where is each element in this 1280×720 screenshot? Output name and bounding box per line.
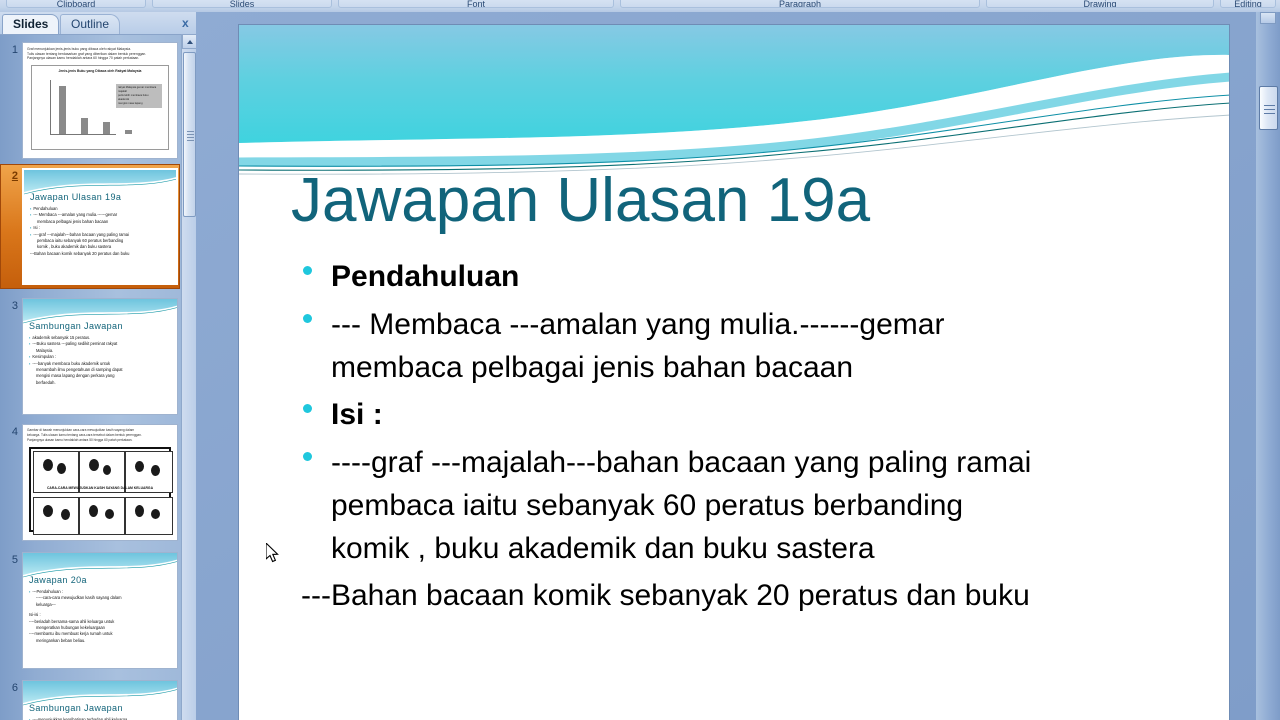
- bullet-continuation: pembaca iaitu sebanyak 60 peratus berban…: [291, 484, 1215, 527]
- page-title[interactable]: Jawapan Ulasan 19a: [291, 165, 870, 236]
- slide-number: 6: [4, 682, 18, 694]
- slide-number: 3: [4, 300, 18, 312]
- bullet-line: --- Membaca ---amalan yang mulia.------g…: [291, 303, 1215, 346]
- thumbnail-canvas: Jawapan 20a ---Pendahuluan : -----cara-c…: [22, 552, 178, 669]
- bullet-icon: [303, 404, 312, 413]
- bullet-line: ----graf ---majalah---bahan bacaan yang …: [291, 441, 1215, 484]
- bullet-text: pembaca iaitu sebanyak 60 peratus berban…: [331, 489, 963, 522]
- bullet-continuation: membaca pelbagai jenis bahan bacaan: [291, 346, 1215, 389]
- chevron-up-icon: [187, 40, 193, 44]
- scrollbar-thumb[interactable]: [1259, 86, 1278, 130]
- bullet-continuation: komik , buku akademik dan buku sastera: [291, 527, 1215, 570]
- bullet-text: membaca pelbagai jenis bahan bacaan: [331, 351, 853, 384]
- mini-slide-body: ---Pendahuluan : -----cara-cara mewujudk…: [29, 589, 173, 644]
- ribbon-group-paragraph[interactable]: Paragraph: [620, 0, 980, 8]
- chart-bar: [125, 130, 132, 134]
- bullet-icon: [303, 452, 312, 461]
- ribbon-group-drawing[interactable]: Drawing: [986, 0, 1214, 8]
- thumbnail-canvas: Gambar di bawah menunjukkan cara-cara me…: [22, 424, 178, 541]
- slide-number: 5: [4, 554, 18, 566]
- scroll-up-button[interactable]: [182, 34, 197, 49]
- chart-bar: [81, 118, 88, 134]
- thumbnail-canvas: Jawapan Ulasan 19a Pendahuluan --- Memba…: [22, 168, 178, 285]
- legend-item: mengisi masa lapang: [118, 102, 160, 106]
- mini-slide-body: akademik sebanyak 15 peratus. ---Buku sa…: [29, 335, 173, 386]
- bullet-text: ----graf ---majalah---bahan bacaan yang …: [331, 446, 1031, 479]
- comic-caption: CARA-CARA MEWUJUDKAN KASIH SAYANG DALAM …: [31, 486, 169, 490]
- mini-chart: Jenis-jenis Buku yang Dibaca oleh Rakyat…: [31, 65, 169, 150]
- current-slide[interactable]: Jawapan Ulasan 19a Pendahuluan --- Memba…: [238, 24, 1230, 720]
- mini-slide-body: Pendahuluan --- Membaca ---amalan yang m…: [30, 206, 172, 257]
- intro-line: Panjangnya ulasan kamu hendaklah antara …: [27, 56, 173, 61]
- powerpoint-window: Clipboard Slides Font Paragraph Drawing …: [0, 0, 1280, 720]
- bullet-text: Isi :: [331, 398, 383, 431]
- slide-body[interactable]: Pendahuluan --- Membaca ---amalan yang m…: [291, 255, 1215, 618]
- chart-legend: rakyat Malaysia gemar membaca majalah pe…: [116, 84, 162, 108]
- panel-scrollbar[interactable]: [181, 34, 197, 720]
- thumbnail-list[interactable]: 1 Graf menunjukkan jenis-jenis buku yang…: [0, 34, 180, 720]
- bullet-line: Isi :: [291, 393, 1215, 437]
- tab-slides[interactable]: Slides: [2, 14, 59, 34]
- bullet-icon: [303, 266, 312, 275]
- slide-number: 4: [4, 426, 18, 438]
- mini-slide-title: Jawapan 20a: [29, 575, 87, 585]
- close-panel-icon[interactable]: x: [182, 16, 189, 30]
- ribbon-group-slides[interactable]: Slides: [152, 0, 332, 8]
- chart-bar: [59, 86, 66, 134]
- bullet-text: komik , buku akademik dan buku sastera: [331, 532, 875, 565]
- bullet-text: Pendahuluan: [331, 260, 519, 293]
- mini-slide-title: Sambungan Jawapan: [29, 703, 123, 713]
- ribbon-group-font[interactable]: Font: [338, 0, 614, 8]
- thumbnail-canvas: Graf menunjukkan jenis-jenis buku yang d…: [22, 42, 178, 159]
- legend-item: rakyat Malaysia gemar membaca majalah: [118, 86, 160, 94]
- chart-bar: [103, 122, 110, 134]
- mini-line: ---Bahan bacaan komik sebanyak 20 peratu…: [30, 251, 172, 257]
- thumbnail-canvas: Sambungan Jawapan ----menunjukkan keprih…: [22, 680, 178, 720]
- theme-wave-graphic: [239, 25, 1229, 175]
- panel-tabstrip: Slides Outline x: [0, 12, 196, 35]
- tab-outline[interactable]: Outline: [60, 14, 120, 34]
- bullet-text: --- Membaca ---amalan yang mulia.------g…: [331, 308, 944, 341]
- intro-line: Panjangnya ulasan kamu hendaklah antara …: [27, 438, 173, 443]
- bullet-icon: [303, 314, 312, 323]
- ribbon-group-editing[interactable]: Editing: [1220, 0, 1276, 8]
- legend-item: perlu lebih membaca buku akademik: [118, 94, 160, 102]
- ribbon-group-clipboard[interactable]: Clipboard: [6, 0, 146, 8]
- mini-slide-title: Sambungan Jawapan: [29, 321, 123, 331]
- scroll-up-button[interactable]: [1260, 12, 1276, 24]
- comic-illustration: CARA-CARA MEWUJUDKAN KASIH SAYANG DALAM …: [29, 447, 171, 532]
- mini-slide-title: Jawapan Ulasan 19a: [30, 192, 121, 202]
- slide-number: 2: [4, 170, 18, 182]
- slide-stage: Jawapan Ulasan 19a Pendahuluan --- Memba…: [196, 12, 1256, 720]
- plain-line: ---Bahan bacaan komik sebanyak 20 peratu…: [291, 574, 1215, 618]
- chart-plot: [50, 80, 116, 135]
- document-scrollbar[interactable]: [1256, 12, 1280, 720]
- thumbnail-canvas: Sambungan Jawapan akademik sebanyak 15 p…: [22, 298, 178, 415]
- mini-line: berfaedah.: [29, 380, 173, 386]
- slide-number: 1: [4, 44, 18, 56]
- scrollbar-thumb[interactable]: [183, 52, 196, 217]
- chart-title: Jenis-jenis Buku yang Dibaca oleh Rakyat…: [32, 69, 168, 73]
- bullet-line: Pendahuluan: [291, 255, 1215, 299]
- bullet-text: ---Bahan bacaan komik sebanyak 20 peratu…: [301, 579, 1030, 612]
- mini-line: meringankan beban beliau.: [29, 638, 173, 644]
- slides-panel: Slides Outline x 1 Graf menunjukkan jeni…: [0, 12, 196, 720]
- mouse-cursor: [266, 543, 282, 565]
